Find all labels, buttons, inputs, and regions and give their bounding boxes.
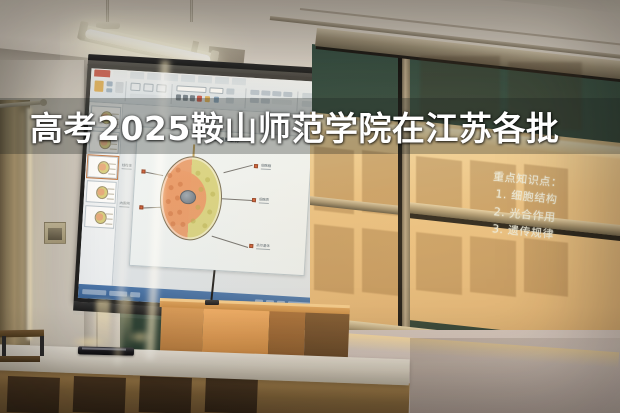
- paste-icon[interactable]: [94, 80, 104, 92]
- chair-seat: [0, 356, 40, 362]
- status-slide-counter: [82, 289, 106, 295]
- label-marker: [139, 205, 143, 209]
- cut-icon[interactable]: [106, 81, 112, 86]
- reset-icon[interactable]: [156, 84, 166, 93]
- desk-cubby: [7, 376, 60, 413]
- window-shadow: [314, 224, 354, 294]
- classroom-photo: 动物细胞结构: [0, 0, 620, 413]
- slide-thumbnail-active[interactable]: [87, 155, 118, 179]
- label-marker: [254, 164, 258, 168]
- blackboard-divider: [402, 48, 410, 339]
- diagram-label: 内质网: [119, 200, 129, 206]
- window-shadow: [362, 228, 400, 296]
- page-title: 高考2025鞍山师范学院在江苏各批: [30, 100, 590, 152]
- desk-cubby: [205, 376, 258, 413]
- numbering-icon[interactable]: [261, 90, 270, 96]
- layout-icon[interactable]: [143, 83, 153, 92]
- window-shadow: [416, 232, 462, 295]
- ppt-tab-slideshow[interactable]: [198, 76, 212, 84]
- new-slide-icon[interactable]: [130, 83, 140, 92]
- bullets-icon[interactable]: [250, 90, 259, 96]
- microphone-base: [205, 300, 219, 305]
- chair-leg: [2, 336, 6, 358]
- font-size-box[interactable]: [209, 87, 223, 94]
- ppt-tab-file[interactable]: [94, 69, 110, 77]
- slide-thumbnail[interactable]: [84, 205, 115, 229]
- align-left-icon[interactable]: [272, 91, 281, 97]
- find-icon[interactable]: [302, 93, 312, 100]
- desk-cubby: [73, 376, 126, 413]
- align-center-icon[interactable]: [283, 92, 292, 98]
- ppt-tab-animations[interactable]: [181, 75, 195, 83]
- label-marker: [249, 244, 253, 248]
- diagram-label: 线粒体: [122, 162, 132, 168]
- chair-backrest: [0, 330, 44, 338]
- ppt-tab-insert[interactable]: [130, 72, 144, 80]
- blackboard-chalk-text: 重点知识点： 1. 细胞结构 2. 光合作用 3. 遗传规律: [482, 168, 619, 300]
- copy-icon[interactable]: [106, 88, 112, 92]
- diagram-label: 高尔基体: [256, 242, 270, 248]
- lower-wall-shadow: [410, 338, 620, 413]
- leader-line: [223, 165, 252, 174]
- leader-line: [222, 198, 252, 201]
- ppt-tab-home[interactable]: [113, 71, 127, 79]
- label-marker: [141, 169, 145, 173]
- ppt-tab-transitions[interactable]: [164, 74, 178, 82]
- ribbon-group-clipboard[interactable]: [92, 79, 127, 101]
- diagram-label: 细胞质: [259, 196, 269, 202]
- ppt-tab-review[interactable]: [215, 77, 229, 85]
- font-name-box[interactable]: [176, 85, 206, 93]
- ppt-tab-view[interactable]: [232, 78, 246, 86]
- diagram-label: 细胞膜: [261, 162, 271, 168]
- sunlight-pool-desk-2: [128, 330, 152, 344]
- slide-thumbnail[interactable]: [86, 180, 117, 204]
- chair-leg: [40, 336, 44, 356]
- increase-font-icon[interactable]: [226, 88, 234, 94]
- desk-cubby: [139, 376, 192, 413]
- label-marker: [252, 198, 256, 202]
- light-suspension-rod-2: [190, 0, 193, 22]
- ppt-tab-design[interactable]: [147, 73, 161, 81]
- format-painter-icon[interactable]: [115, 82, 124, 93]
- wall-box-inner: [48, 228, 62, 240]
